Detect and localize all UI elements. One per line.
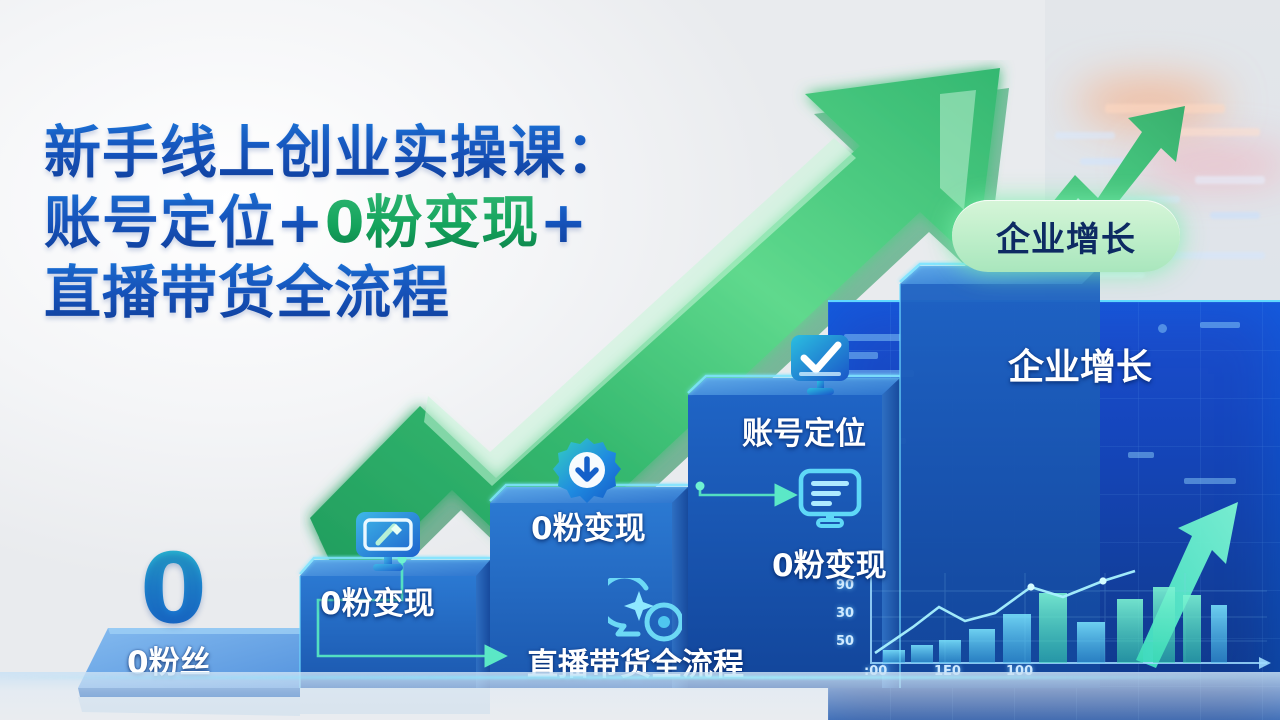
title-seg-3: 直播带货全流程 <box>44 260 450 326</box>
monitor-doc-icon <box>796 466 866 534</box>
floor-surface <box>0 672 1280 720</box>
title-seg-2b: 0粉变现 <box>325 190 540 256</box>
chart-ytick-2: 50 <box>836 634 854 649</box>
enterprise-growth-panel-label: 企业增长 <box>1008 338 1152 390</box>
page-title: 新手线上创业实操课： 账号定位+0粉变现+ 直播带货全流程 <box>44 118 744 328</box>
floor-glow-line <box>0 676 1280 679</box>
step-label-monetize-3: 0粉变现 <box>772 540 887 585</box>
step-label-positioning: 账号定位 <box>742 408 866 453</box>
enterprise-growth-badge[interactable]: 企业增长 <box>952 200 1180 272</box>
monitor-pen-icon <box>352 505 424 577</box>
chart-bars <box>883 587 1227 663</box>
title-line-3: 直播带货全流程 <box>44 258 744 328</box>
gear-download-icon <box>552 436 622 506</box>
title-line-2: 账号定位+0粉变现+ <box>44 188 744 258</box>
title-line-1: 新手线上创业实操课： <box>44 118 744 188</box>
connector-step3-step6 <box>696 482 791 496</box>
zero-followers-digit: 0 <box>140 541 207 637</box>
monitor-check-icon <box>788 330 854 400</box>
title-seg-2c: + <box>539 190 588 256</box>
title-seg-1: 新手线上创业实操课： <box>44 120 624 186</box>
chart-ytick-1: 30 <box>836 606 854 621</box>
enterprise-growth-badge-label: 企业增长 <box>996 212 1136 261</box>
poster-canvas: 90 30 50 :00 1E0 100 新手线上创业实操课： 账号定位+0粉变… <box>0 0 1280 720</box>
title-seg-2a: 账号定位+ <box>44 190 325 256</box>
step-label-monetize-1: 0粉变现 <box>320 578 435 623</box>
step-label-monetize-2: 0粉变现 <box>531 503 646 548</box>
